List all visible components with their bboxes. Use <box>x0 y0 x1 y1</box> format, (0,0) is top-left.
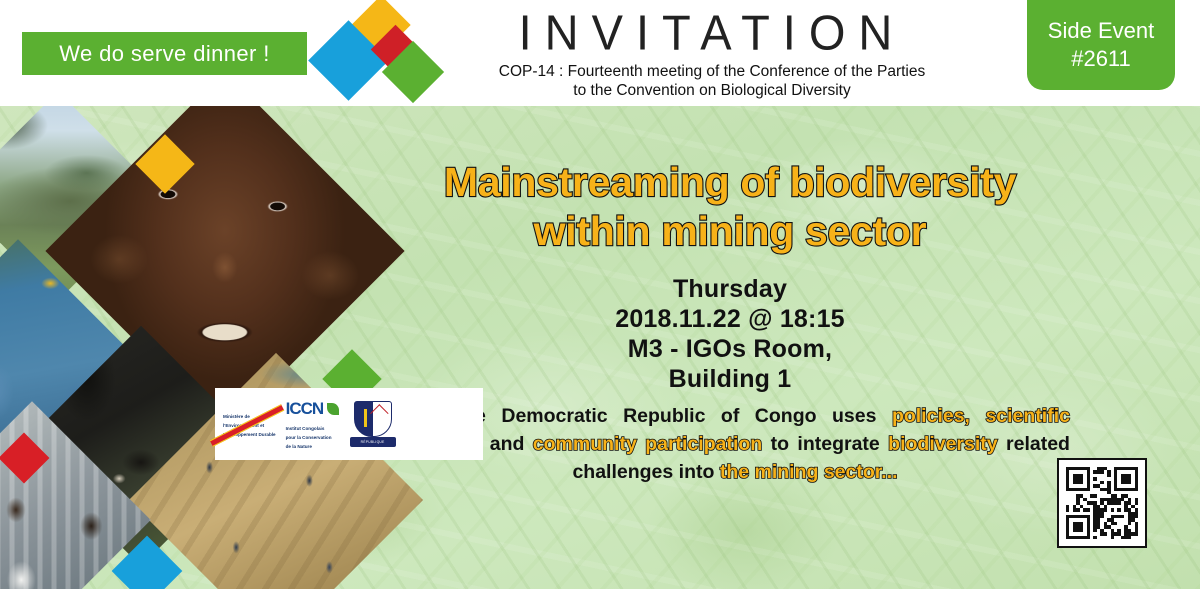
dinner-banner: We do serve dinner ! <box>22 32 307 75</box>
event-title-line-2: within mining sector <box>390 207 1070 256</box>
description-highlight-biodiversity: biodiversity <box>888 433 997 455</box>
shield-crest-icon: RÉPUBLIQUE <box>350 400 396 448</box>
photo-collage <box>0 106 430 589</box>
invitation-title: INVITATION <box>452 0 972 63</box>
qr-code-grid <box>1066 467 1138 539</box>
iccn-logo: ICCN Institut Congolais pour la Conserva… <box>286 399 338 450</box>
description-highlight-policies: policies, <box>892 405 970 427</box>
iccn-caption-1: Institut Congolais <box>286 426 325 432</box>
invitation-poster: Mainstreaming of biodiversity within min… <box>0 0 1200 589</box>
ministry-caption-1: Ministère de <box>223 414 250 420</box>
event-room: M3 - IGOs Room, <box>390 334 1070 364</box>
event-day: Thursday <box>390 274 1070 304</box>
side-event-label: Side Event <box>1048 17 1154 45</box>
description-part-3: and <box>481 433 532 455</box>
leaf-icon <box>327 403 339 415</box>
crest-logo: RÉPUBLIQUE <box>350 400 396 448</box>
invitation-subtitle-line-1: COP-14 : Fourteenth meeting of the Confe… <box>452 62 972 81</box>
iccn-caption-2: pour la Conservation <box>286 435 332 441</box>
event-title: Mainstreaming of biodiversity within min… <box>390 158 1070 256</box>
iccn-wordmark-text: ICCN <box>286 399 324 418</box>
event-datetime: 2018.11.22 @ 18:15 <box>390 304 1070 334</box>
description-part-2 <box>970 405 985 427</box>
iccn-wordmark-icon: ICCN <box>286 399 338 423</box>
invitation-subtitle: COP-14 : Fourteenth meeting of the Confe… <box>452 62 972 100</box>
ministry-environment-logo: Ministère de l'Environnement et Développ… <box>223 411 276 438</box>
dinner-banner-label: We do serve dinner ! <box>59 41 270 67</box>
crest-banner-text: RÉPUBLIQUE <box>350 437 396 447</box>
cbd-diamond-logo <box>313 2 443 102</box>
side-event-badge: Side Event #2611 <box>1027 0 1175 90</box>
description-highlight-community-participation: community participation <box>533 433 762 455</box>
event-title-line-1: Mainstreaming of biodiversity <box>390 158 1070 207</box>
poster-header: We do serve dinner ! INVITATION COP-14 :… <box>0 0 1200 106</box>
invitation-block: INVITATION COP-14 : Fourteenth meeting o… <box>452 0 972 100</box>
iccn-caption-3: de la Nature <box>286 444 312 450</box>
partner-logos: Ministère de l'Environnement et Développ… <box>215 388 483 460</box>
event-details: Thursday 2018.11.22 @ 18:15 M3 - IGOs Ro… <box>390 274 1070 394</box>
event-building: Building 1 <box>390 364 1070 394</box>
side-event-number: #2611 <box>1071 45 1131 73</box>
invitation-subtitle-line-2: to the Convention on Biological Diversit… <box>452 81 972 100</box>
description-highlight-mining-sector: the mining sector... <box>720 461 898 483</box>
qr-code[interactable] <box>1057 458 1147 548</box>
event-description: How the Democratic Republic of Congo use… <box>400 402 1070 486</box>
description-part-4: to integrate <box>762 433 888 455</box>
